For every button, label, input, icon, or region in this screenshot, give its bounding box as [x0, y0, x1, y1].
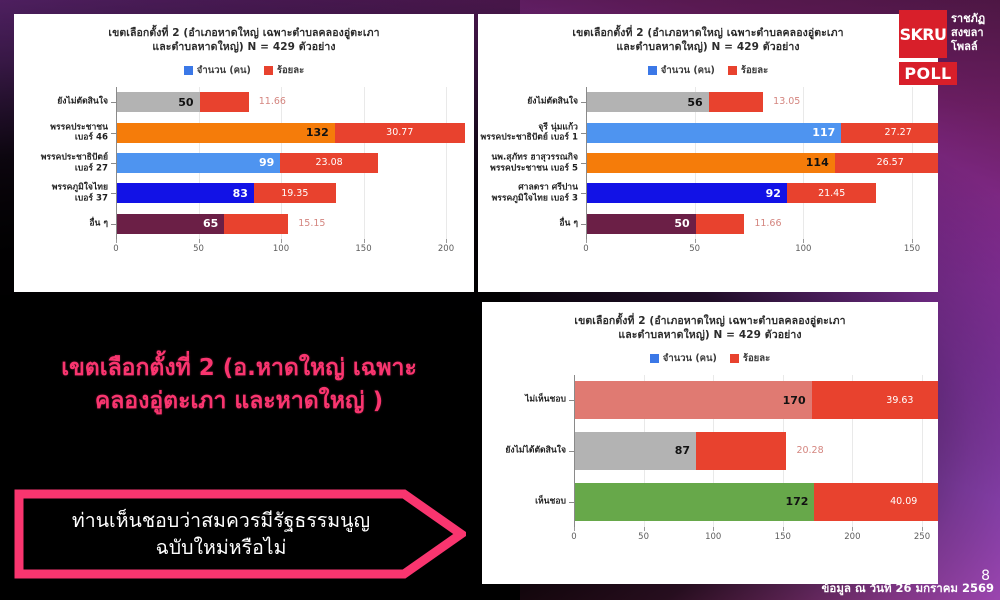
x-tick-label: 100 [795, 244, 811, 254]
count-bar: 92 [587, 183, 787, 203]
percent-value-label: 15.15 [289, 218, 325, 229]
bar-row: 65 [117, 214, 288, 234]
percent-bar [696, 214, 745, 234]
gridline [446, 87, 447, 239]
bar-row: 56 [587, 92, 763, 112]
chart-legend: จำนวน (คน)ร้อยละ [14, 63, 474, 78]
percent-bar: 21.45 [787, 183, 877, 203]
chart-title: เขตเลือกตั้งที่ 2 (อำเภอหาดใหญ่ เฉพาะตำบ… [32, 26, 456, 55]
bar-row: 13230.77 [117, 123, 465, 143]
question-callout: ท่านเห็นชอบว่าสมควรมีรัฐธรรมนูญ ฉบับใหม่… [14, 484, 466, 584]
y-tick-mark [111, 193, 116, 194]
category-label: พรรคประชาชน เบอร์ 46 [16, 122, 108, 143]
count-value-label: 99 [259, 156, 280, 169]
x-tick-label: 50 [689, 244, 700, 254]
chart-panel-constitution-approval: เขตเลือกตั้งที่ 2 (อำเภอหาดใหญ่ เฉพาะตำบ… [482, 302, 938, 584]
x-tick-mark [803, 239, 804, 243]
y-tick-mark [569, 400, 574, 401]
x-tick-mark [783, 527, 784, 531]
poll-mark-label: POLL [904, 64, 951, 83]
count-value-label: 50 [178, 96, 199, 109]
x-tick-mark [852, 527, 853, 531]
percent-value-label: 30.77 [379, 127, 420, 138]
legend-label: จำนวน (คน) [197, 63, 251, 78]
category-label: นพ.สุภัทร ฮาสุวรรณกิจ พรรคประชาชน เบอร์ … [480, 152, 578, 173]
percent-bar: 23.08 [280, 153, 377, 173]
count-bar: 117 [587, 123, 841, 143]
count-value-label: 170 [783, 394, 812, 407]
category-label: ไม่เห็นชอบ [484, 395, 566, 406]
count-bar: 99 [117, 153, 280, 173]
percent-value-label: 11.66 [745, 218, 781, 229]
percent-bar: 19.35 [254, 183, 336, 203]
skru-mark-label: SKRU [900, 25, 947, 44]
bar-row: 11426.57 [587, 153, 938, 173]
legend-label: จำนวน (คน) [663, 351, 717, 366]
plot-inner: 0501001505613.05ยังไม่ตัดสินใจ11727.27จุ… [586, 87, 912, 261]
chart-legend: จำนวน (คน)ร้อยละ [478, 63, 938, 78]
y-tick-mark [111, 224, 116, 225]
count-value-label: 87 [675, 444, 696, 457]
plot-inner: 0501001502005011.66ยังไม่ตัดสินใจ13230.7… [116, 87, 446, 261]
percent-bar: 26.57 [835, 153, 938, 173]
count-bar: 50 [117, 92, 200, 112]
legend-swatch [728, 66, 737, 75]
plot-inner: 05010015020025017039.63ไม่เห็นชอบ8720.28… [574, 375, 922, 549]
legend-swatch [648, 66, 657, 75]
y-tick-mark [111, 163, 116, 164]
category-label: ยังไม่ตัดสินใจ [16, 97, 108, 108]
percent-bar [224, 214, 288, 234]
x-tick-label: 250 [914, 532, 930, 542]
y-tick-mark [581, 133, 586, 134]
x-tick-mark [446, 239, 447, 243]
district-heading: เขตเลือกตั้งที่ 2 (อ.หาดใหญ่ เฉพาะ คลองอ… [14, 352, 464, 417]
count-bar: 56 [587, 92, 709, 112]
percent-value-label: 27.27 [878, 127, 919, 138]
percent-bar: 40.09 [814, 483, 938, 521]
x-tick-label: 0 [571, 532, 576, 542]
page-number: 8 [981, 568, 990, 584]
category-label: ศาลดรา ศรีปาน พรรคภูมิใจไทย เบอร์ 3 [480, 183, 578, 204]
bar-row: 50 [117, 92, 249, 112]
chart-title: เขตเลือกตั้งที่ 2 (อำเภอหาดใหญ่ เฉพาะตำบ… [500, 314, 920, 343]
y-tick-mark [111, 102, 116, 103]
count-value-label: 65 [203, 217, 224, 230]
chart-panel-party-vote: เขตเลือกตั้งที่ 2 (อำเภอหาดใหญ่ เฉพาะตำบ… [14, 14, 474, 292]
percent-bar [200, 92, 249, 112]
count-value-label: 56 [687, 96, 708, 109]
percent-value-label: 23.08 [308, 157, 349, 168]
poll-mark: POLL [899, 62, 957, 85]
skru-mark: SKRU [899, 10, 947, 58]
count-bar: 114 [587, 153, 835, 173]
count-value-label: 50 [674, 217, 695, 230]
count-bar: 83 [117, 183, 254, 203]
skru-poll-logo: SKRU POLL ราชภัฏ สงขลา โพลล์ [899, 8, 997, 90]
x-tick-mark [586, 239, 587, 243]
category-label: ยังไม่ได้ตัดสินใจ [484, 446, 566, 457]
x-tick-label: 200 [438, 244, 454, 254]
percent-value-label: 26.57 [870, 157, 911, 168]
legend-item: จำนวน (คน) [648, 63, 715, 78]
category-label: ยังไม่ตัดสินใจ [480, 97, 578, 108]
legend-label: ร้อยละ [741, 63, 768, 78]
data-date-note: ข้อมูล ณ วันที่ 26 มกราคม 2569 [822, 580, 994, 598]
x-tick-mark [364, 239, 365, 243]
slide-canvas: เขตเลือกตั้งที่ 2 (อำเภอหาดใหญ่ เฉพาะตำบ… [0, 0, 1000, 600]
chart-legend: จำนวน (คน)ร้อยละ [482, 351, 938, 366]
x-tick-mark [116, 239, 117, 243]
bar-row: 87 [575, 432, 786, 470]
chart-plot-area: 0501001505613.05ยังไม่ตัดสินใจ11727.27จุ… [478, 87, 938, 261]
chart-plot-area: 05010015020025017039.63ไม่เห็นชอบ8720.28… [482, 375, 938, 549]
count-bar: 170 [575, 381, 812, 419]
question-text: ท่านเห็นชอบว่าสมควรมีรัฐธรรมนูญ ฉบับใหม่… [36, 484, 406, 584]
count-value-label: 117 [812, 126, 841, 139]
legend-item: จำนวน (คน) [184, 63, 251, 78]
count-value-label: 92 [766, 187, 787, 200]
y-tick-mark [569, 502, 574, 503]
count-bar: 172 [575, 483, 814, 521]
legend-label: ร้อยละ [277, 63, 304, 78]
x-tick-label: 200 [844, 532, 860, 542]
bar-row: 11727.27 [587, 123, 938, 143]
bar-row: 50 [587, 214, 744, 234]
percent-bar: 27.27 [841, 123, 938, 143]
count-value-label: 114 [806, 156, 835, 169]
count-value-label: 132 [306, 126, 335, 139]
count-bar: 132 [117, 123, 335, 143]
legend-item: ร้อยละ [264, 63, 304, 78]
percent-value-label: 39.63 [879, 395, 920, 406]
bar-row: 9221.45 [587, 183, 876, 203]
x-tick-mark [199, 239, 200, 243]
percent-bar: 39.63 [812, 381, 938, 419]
count-bar: 50 [587, 214, 696, 234]
count-bar: 87 [575, 432, 696, 470]
x-tick-label: 50 [193, 244, 204, 254]
percent-bar [696, 432, 786, 470]
chart-plot-area: 0501001502005011.66ยังไม่ตัดสินใจ13230.7… [14, 87, 474, 261]
legend-swatch [184, 66, 193, 75]
x-tick-label: 150 [355, 244, 371, 254]
x-tick-label: 50 [638, 532, 649, 542]
x-tick-mark [695, 239, 696, 243]
legend-swatch [264, 66, 273, 75]
legend-label: จำนวน (คน) [661, 63, 715, 78]
x-tick-label: 100 [705, 532, 721, 542]
percent-value-label: 19.35 [274, 188, 315, 199]
x-tick-label: 150 [775, 532, 791, 542]
y-tick-mark [111, 133, 116, 134]
x-tick-label: 0 [583, 244, 588, 254]
category-label: เห็นชอบ [484, 496, 566, 507]
x-tick-label: 150 [904, 244, 920, 254]
category-label: จุรี นุ่มแก้ว พรรคประชาธิปัตย์ เบอร์ 1 [480, 122, 578, 143]
percent-value-label: 20.28 [787, 445, 823, 456]
y-tick-mark [581, 193, 586, 194]
y-tick-mark [581, 163, 586, 164]
count-value-label: 172 [785, 495, 814, 508]
x-tick-mark [281, 239, 282, 243]
category-label: อื่น ๆ [480, 218, 578, 229]
x-tick-mark [922, 527, 923, 531]
chart-title: เขตเลือกตั้งที่ 2 (อำเภอหาดใหญ่ เฉพาะตำบ… [496, 26, 920, 55]
category-label: พรรคภูมิใจไทย เบอร์ 37 [16, 183, 108, 204]
legend-item: จำนวน (คน) [650, 351, 717, 366]
category-label: พรรคประชาธิปัตย์ เบอร์ 27 [16, 152, 108, 173]
x-tick-mark [912, 239, 913, 243]
legend-item: ร้อยละ [728, 63, 768, 78]
y-tick-mark [581, 224, 586, 225]
legend-label: ร้อยละ [743, 351, 770, 366]
count-value-label: 83 [233, 187, 254, 200]
y-tick-mark [569, 451, 574, 452]
x-tick-mark [713, 527, 714, 531]
chart-panel-candidate-vote: เขตเลือกตั้งที่ 2 (อำเภอหาดใหญ่ เฉพาะตำบ… [478, 14, 938, 292]
percent-bar: 30.77 [335, 123, 465, 143]
percent-bar [709, 92, 763, 112]
bar-row: 8319.35 [117, 183, 336, 203]
x-tick-label: 100 [273, 244, 289, 254]
legend-swatch [730, 354, 739, 363]
percent-value-label: 40.09 [883, 496, 924, 507]
legend-item: ร้อยละ [730, 351, 770, 366]
legend-swatch [650, 354, 659, 363]
bar-row: 9923.08 [117, 153, 378, 173]
logo-thai-name: ราชภัฏ สงขลา โพลล์ [951, 12, 985, 54]
x-tick-label: 0 [113, 244, 118, 254]
percent-value-label: 13.05 [764, 96, 800, 107]
x-tick-mark [574, 527, 575, 531]
y-tick-mark [581, 102, 586, 103]
category-label: อื่น ๆ [16, 218, 108, 229]
bar-row: 17240.09 [575, 483, 938, 521]
percent-value-label: 21.45 [811, 188, 852, 199]
count-bar: 65 [117, 214, 224, 234]
percent-value-label: 11.66 [250, 96, 286, 107]
x-tick-mark [644, 527, 645, 531]
bar-row: 17039.63 [575, 381, 938, 419]
